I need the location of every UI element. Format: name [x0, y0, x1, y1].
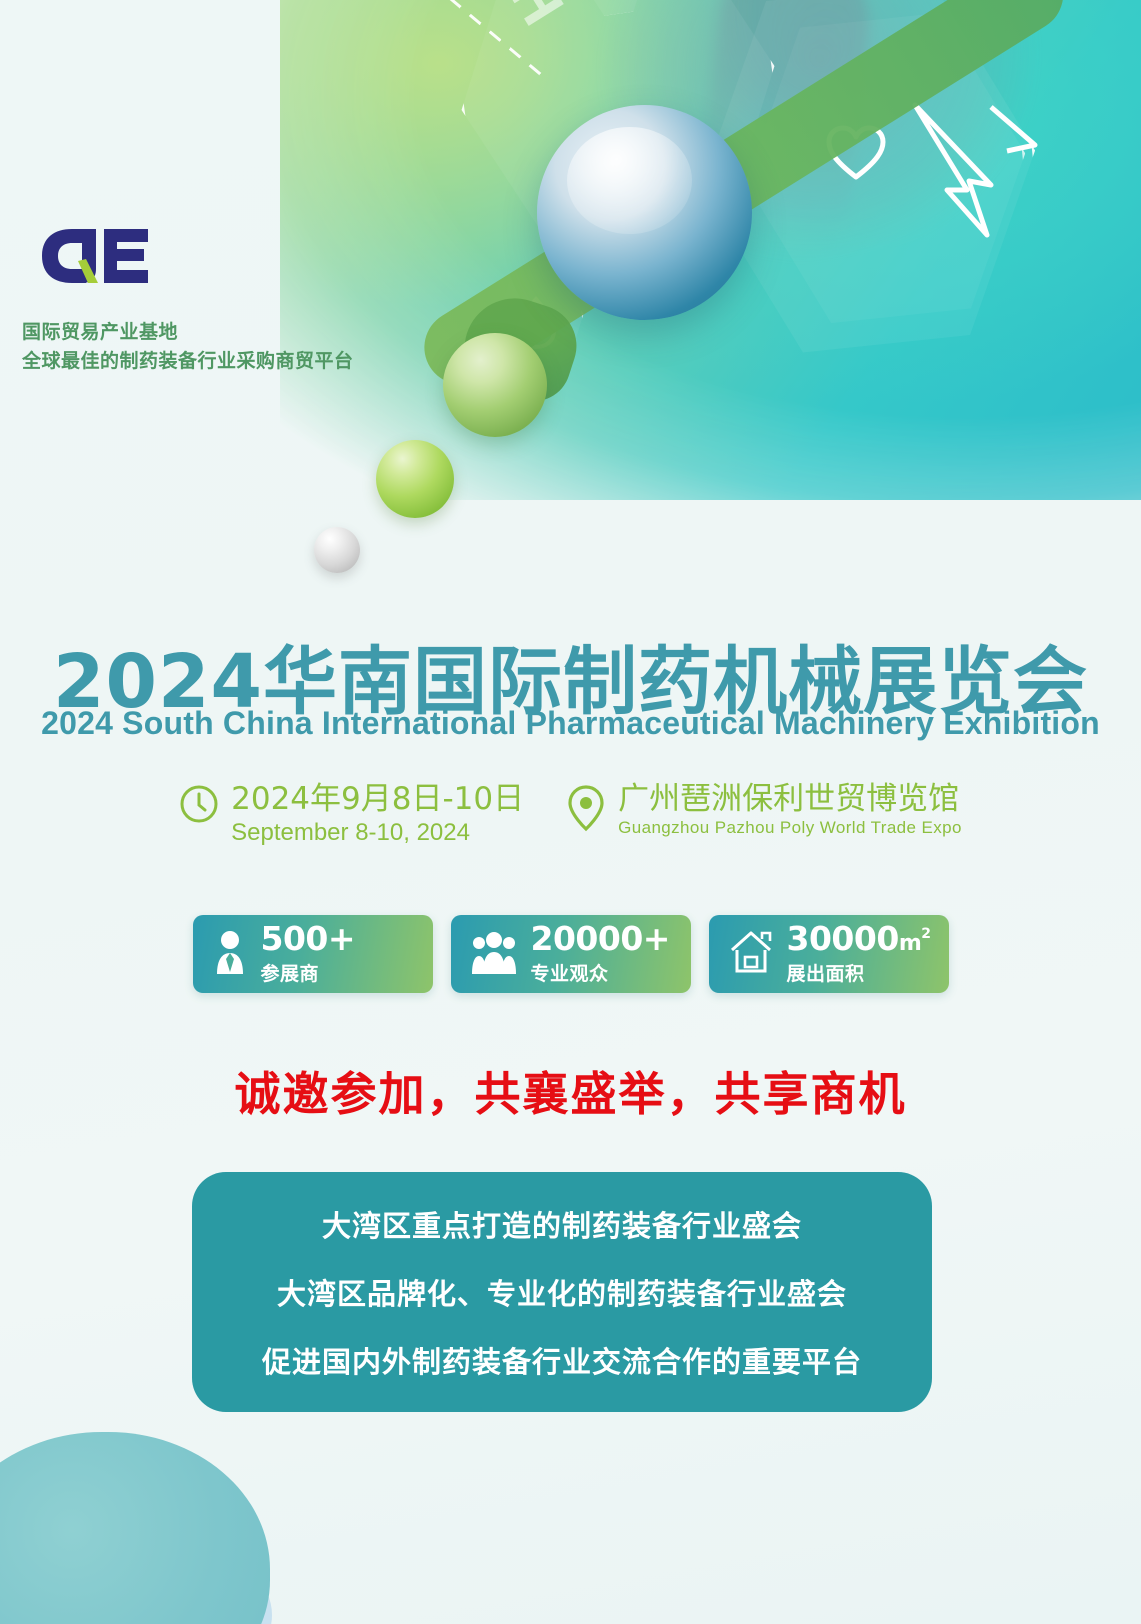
event-venue-text: 广州琶洲保利世贸博览馆 Guangzhou Pazhou Poly World …	[618, 782, 962, 839]
event-date-en: September 8-10, 2024	[231, 817, 524, 848]
event-date-cn: 2024年9月8日-10日	[231, 782, 524, 817]
green-sphere-small	[376, 440, 454, 518]
tagline-line-2: 全球最佳的制药装备行业采购商贸平台	[22, 347, 354, 376]
event-date-block: 2024年9月8日-10日 September 8-10, 2024	[179, 782, 524, 848]
event-info-row: 2024年9月8日-10日 September 8-10, 2024 广州琶洲保…	[0, 782, 1141, 848]
people-group-icon	[471, 930, 517, 979]
pulse-icon	[895, 85, 1055, 255]
stat-unit-area: m	[899, 931, 921, 956]
person-tie-icon	[213, 930, 247, 979]
brand-tagline: 国际贸易产业基地 全球最佳的制药装备行业采购商贸平台	[22, 318, 354, 375]
stat-badge-exhibitors: 500+ 参展商	[193, 915, 433, 993]
house-area-icon	[729, 930, 773, 979]
stat-label-area: 展出面积	[787, 959, 931, 986]
stat-text-visitors: 20000+ 专业观众	[531, 922, 670, 986]
event-date-text: 2024年9月8日-10日 September 8-10, 2024	[231, 782, 524, 848]
event-venue-block: 广州琶洲保利世贸博览馆 Guangzhou Pazhou Poly World …	[566, 782, 962, 839]
stat-number-exhibitors: 500+	[261, 922, 356, 955]
cje-logo-mark	[34, 225, 156, 287]
highlight-line-1: 大湾区重点打造的制药装备行业盛会	[322, 1203, 802, 1245]
page-title-en: 2024 South China International Pharmaceu…	[0, 705, 1141, 742]
event-venue-en: Guangzhou Pazhou Poly World Trade Expo	[618, 817, 962, 839]
blue-sphere-decoration	[537, 105, 752, 320]
clock-icon	[179, 784, 219, 829]
stat-text-exhibitors: 500+ 参展商	[261, 922, 356, 986]
stat-unit-sup: 2	[921, 926, 930, 942]
stat-number-visitors: 20000+	[531, 922, 670, 955]
invitation-slogan: 诚邀参加，共襄盛举，共享商机	[0, 1058, 1141, 1124]
corner-blob-teal	[0, 1432, 270, 1624]
stat-label-exhibitors: 参展商	[261, 959, 356, 986]
highlight-line-3: 促进国内外制药装备行业交流合作的重要平台	[262, 1339, 862, 1381]
stat-number-area: 30000m2	[787, 922, 931, 955]
stat-badge-visitors: 20000+ 专业观众	[451, 915, 691, 993]
cje-logo	[34, 225, 156, 287]
highlights-panel: 大湾区重点打造的制药装备行业盛会 大湾区品牌化、专业化的制药装备行业盛会 促进国…	[192, 1172, 932, 1412]
stats-row: 500+ 参展商 20000+ 专业观众	[0, 915, 1141, 993]
event-venue-cn: 广州琶洲保利世贸博览馆	[618, 782, 962, 817]
highlight-line-2: 大湾区品牌化、专业化的制药装备行业盛会	[277, 1271, 847, 1313]
stat-label-visitors: 专业观众	[531, 959, 670, 986]
green-sphere-large	[443, 333, 547, 437]
stat-number-area-value: 30000	[787, 919, 899, 958]
exhibition-poster: TH	[0, 0, 1141, 1624]
stat-text-area: 30000m2 展出面积	[787, 922, 931, 986]
tagline-line-1: 国际贸易产业基地	[22, 318, 354, 347]
stat-badge-area: 30000m2 展出面积	[709, 915, 949, 993]
grey-sphere-decoration	[314, 527, 360, 573]
location-pin-icon	[566, 784, 606, 837]
